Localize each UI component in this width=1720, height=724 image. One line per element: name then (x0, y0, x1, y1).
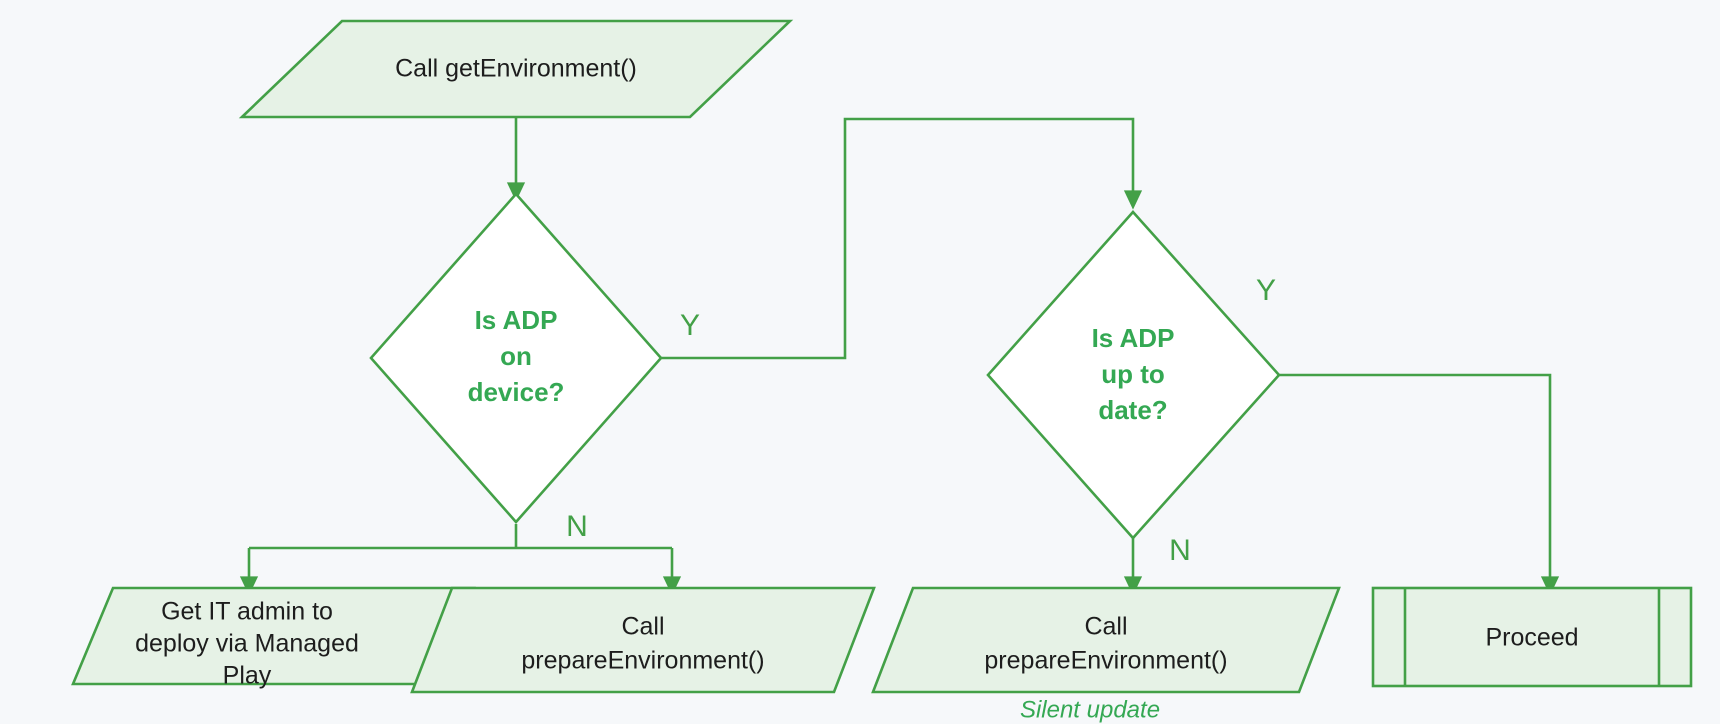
node-decision-is-adp-on-device[interactable]: Is ADP on device? (371, 194, 661, 522)
it-admin-line-2: deploy via Managed (135, 630, 359, 658)
flowchart-svg: Call getEnvironment() Is ADP on device? … (0, 0, 1720, 724)
connector-uptodate-yes-to-proceed (1279, 375, 1550, 586)
uptodate-decision-line-1: Is ADP (1092, 323, 1175, 353)
branch-label-uptodate-yes: Y (1256, 274, 1276, 307)
device-decision-line-1: Is ADP (475, 305, 558, 335)
device-decision-line-3: device? (468, 377, 565, 407)
node-call-prepare-environment-right[interactable]: Call prepareEnvironment() (873, 588, 1339, 692)
node-decision-is-adp-up-to-date[interactable]: Is ADP up to date? (988, 212, 1279, 538)
branch-label-uptodate-no: N (1169, 534, 1191, 567)
prepare-env-right-line-2: prepareEnvironment() (984, 647, 1227, 675)
uptodate-decision-line-2: up to (1101, 359, 1165, 389)
branch-label-device-yes: Y (680, 309, 700, 342)
device-decision-line-2: on (500, 341, 532, 371)
node-call-get-environment[interactable]: Call getEnvironment() (242, 21, 790, 117)
branch-label-device-no: N (566, 510, 588, 543)
uptodate-decision-line-3: date? (1098, 395, 1167, 425)
prepare-env-right-line-1: Call (1084, 613, 1127, 641)
it-admin-line-1: Get IT admin to (161, 598, 333, 626)
prepare-env-left-line-2: prepareEnvironment() (521, 647, 764, 675)
node-proceed[interactable]: Proceed (1373, 588, 1691, 686)
it-admin-line-3: Play (223, 662, 272, 690)
prepare-env-left-line-1: Call (621, 613, 664, 641)
proceed-label: Proceed (1485, 624, 1578, 652)
node-get-it-admin-deploy[interactable]: Get IT admin to deploy via Managed Play (73, 588, 474, 690)
silent-update-caption: Silent update (1020, 696, 1160, 723)
node-call-prepare-environment-left[interactable]: Call prepareEnvironment() (412, 588, 874, 692)
flowchart-canvas: Call getEnvironment() Is ADP on device? … (0, 0, 1720, 724)
start-label: Call getEnvironment() (395, 55, 637, 83)
